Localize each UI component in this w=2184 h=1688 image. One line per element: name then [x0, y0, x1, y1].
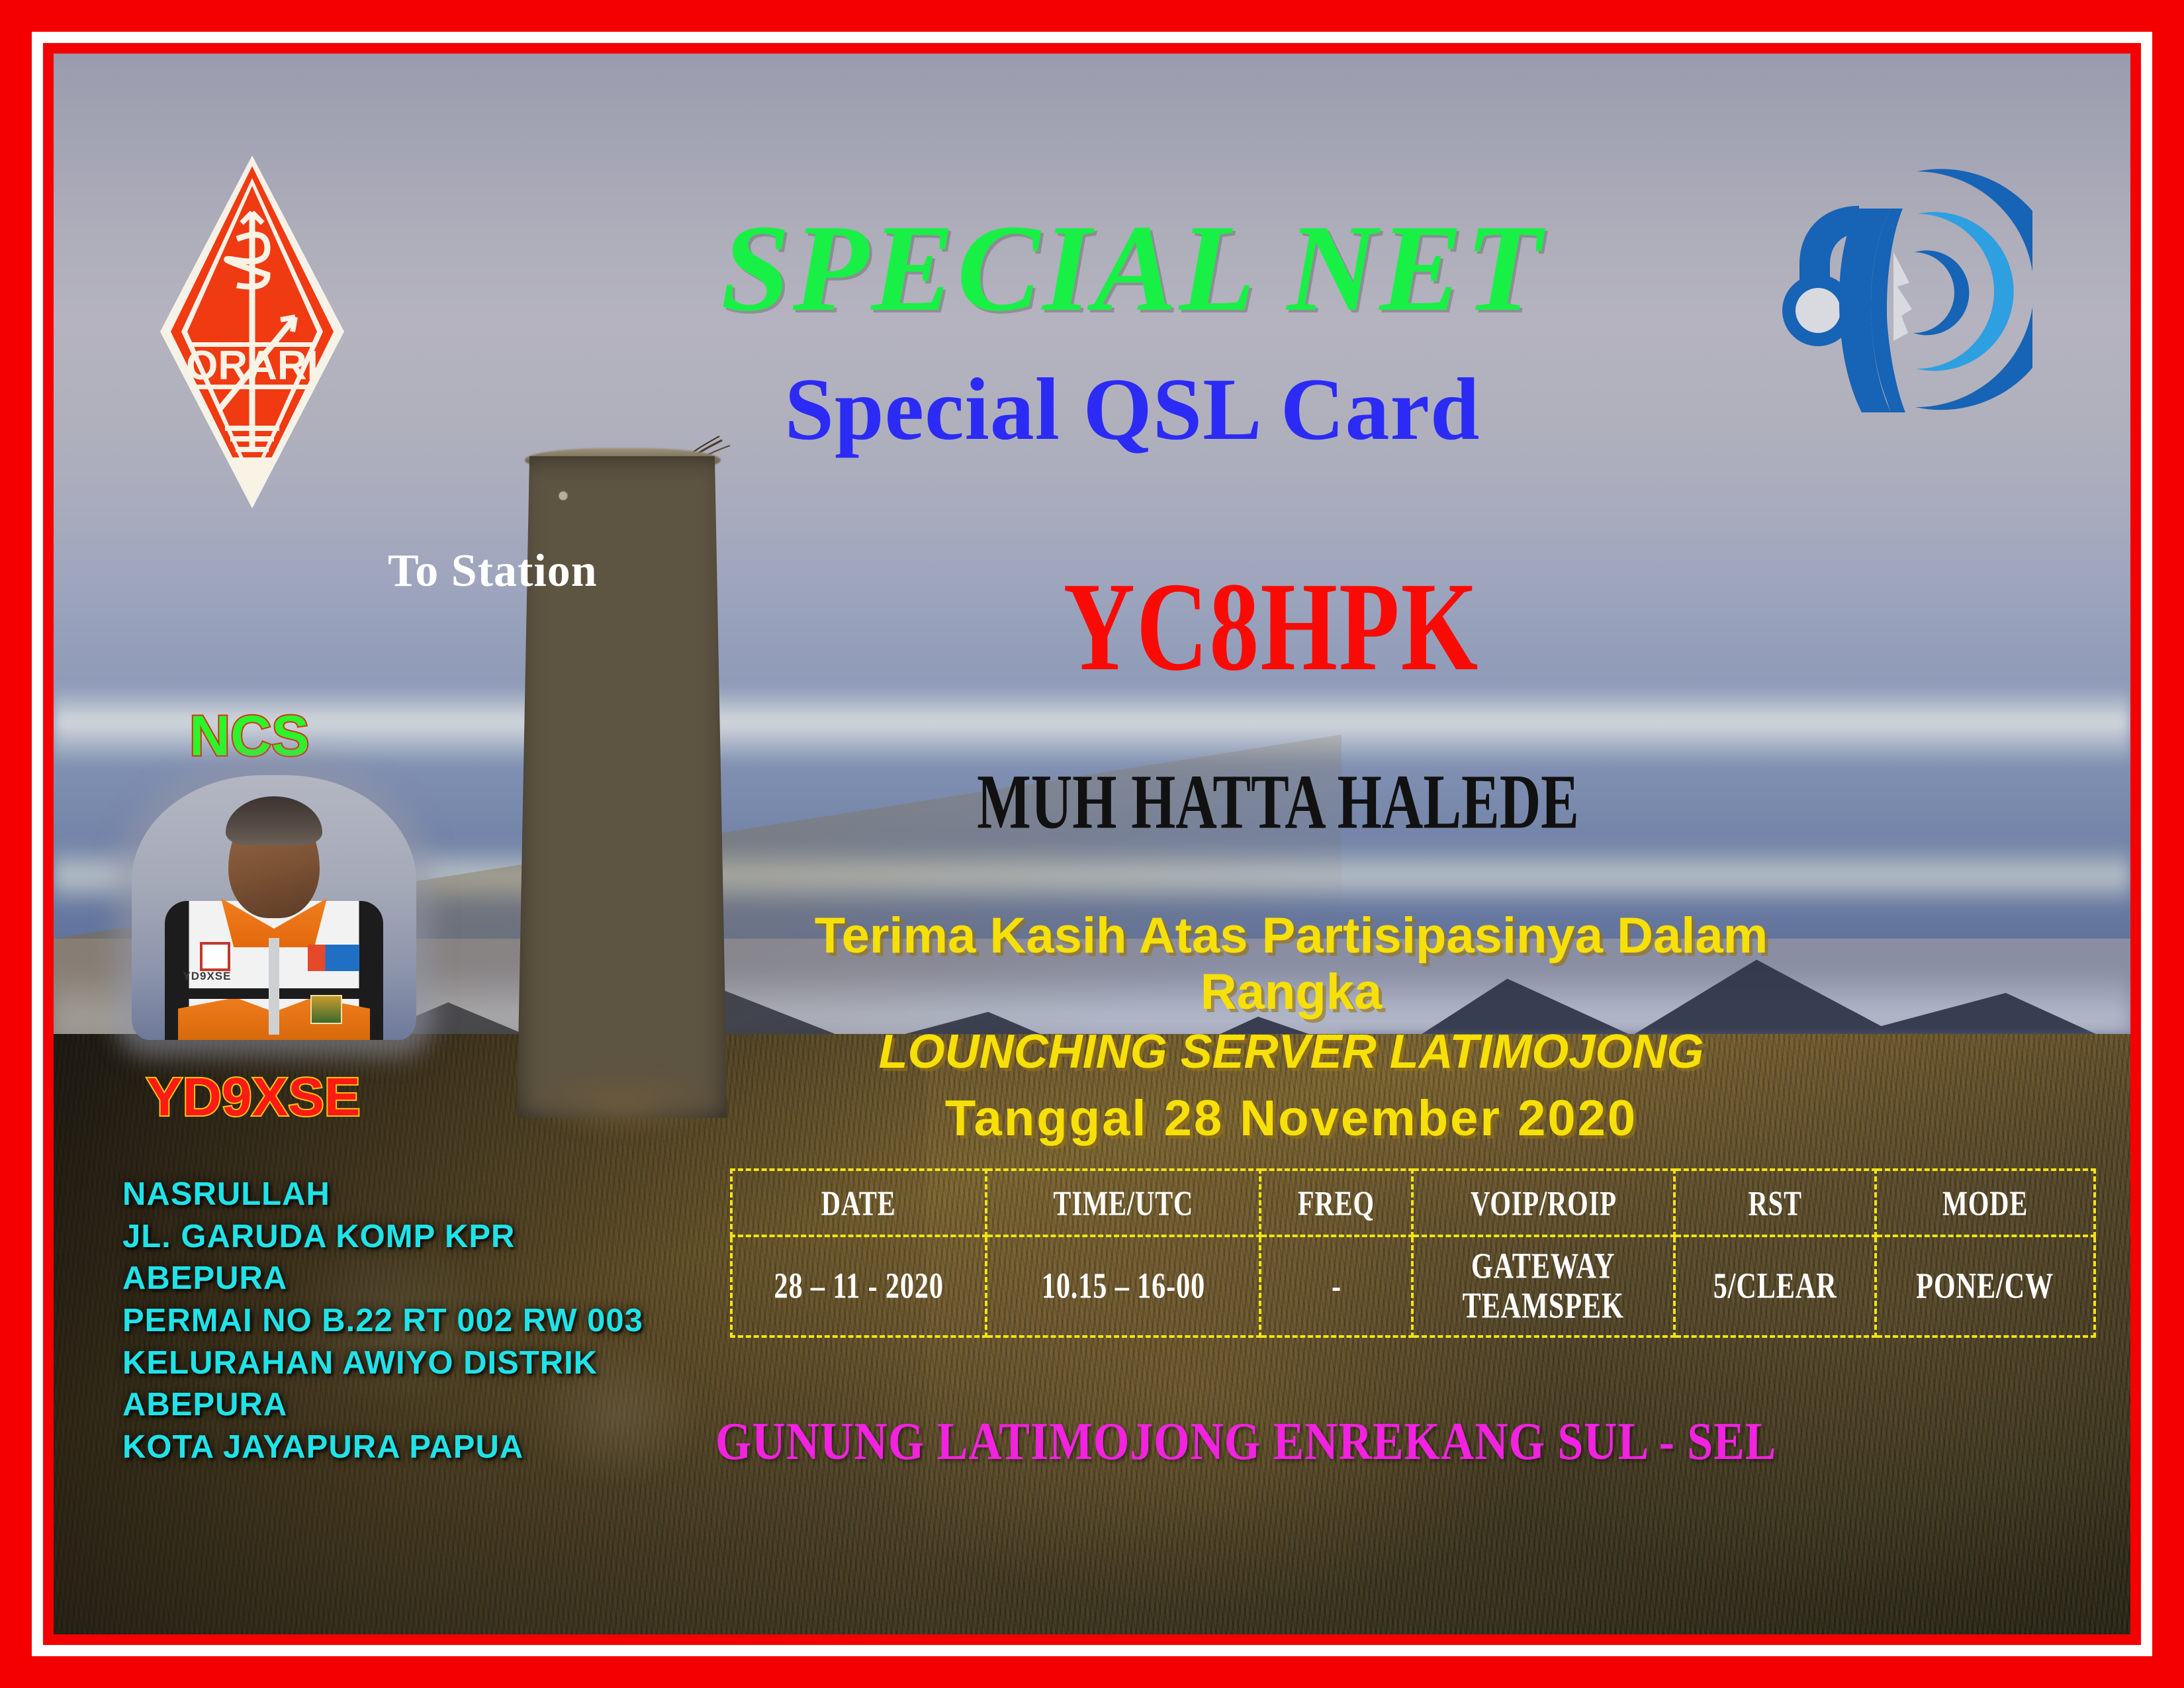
operator-badge-right	[308, 945, 359, 971]
address-line: JL. GARUDA KOMP KPR	[122, 1216, 643, 1258]
stone-monument-tower	[510, 424, 735, 1139]
address-line: PERMAI NO B.22 RT 002 RW 003	[122, 1300, 643, 1342]
address-line: ABEPURA	[122, 1384, 643, 1427]
column-header-date: DATE	[731, 1170, 986, 1236]
station-callsign: YC8HPK	[874, 563, 1668, 690]
orari-logo-text: ORARI	[186, 343, 318, 389]
address-line: ABEPURA	[122, 1258, 643, 1300]
page-title: SPECIAL NET	[504, 206, 1761, 330]
operator-id-card	[310, 995, 342, 1024]
address-line: KELURAHAN AWIYO DISTRIK	[122, 1342, 643, 1385]
table-header-row: DATE TIME/UTC FREQ VOIP/ROIP RST MODE	[731, 1170, 2095, 1236]
ncs-label: NCS	[189, 704, 310, 769]
cell-time: 10.15 – 16-00	[986, 1236, 1260, 1336]
cell-date: 28 – 11 - 2020	[731, 1236, 986, 1336]
cell-mode: PONE/CW	[1876, 1236, 2095, 1336]
operator-badge-left	[200, 942, 230, 971]
sender-address: NASRULLAH JL. GARUDA KOMP KPR ABEPURA PE…	[122, 1174, 643, 1469]
qsl-card-outer-frame: ORARI	[0, 0, 2184, 1688]
event-date-line: Tanggal 28 November 2020	[755, 1084, 1827, 1154]
page-subtitle: Special QSL Card	[504, 365, 1761, 453]
cell-voip-line2: TEAMSPEK	[1463, 1284, 1624, 1329]
ncs-callsign: YD9XSE	[146, 1066, 361, 1129]
column-header-mode: MODE	[1876, 1170, 2095, 1236]
qso-log-table: DATE TIME/UTC FREQ VOIP/ROIP RST MODE 28…	[730, 1168, 2096, 1338]
qsl-card-white-frame: ORARI	[32, 32, 2152, 1656]
operator-photo: YD9XSE	[132, 775, 416, 1040]
cloud-streak-1	[54, 686, 2130, 765]
event-title-line: LOUNCHING SERVER LATIMOJONG	[755, 1020, 1827, 1084]
address-line: KOTA JAYAPURA PAPUA	[122, 1427, 643, 1469]
cell-voip: GATEWAY TEAMSPEK	[1412, 1236, 1674, 1336]
event-thanks-line: Terima Kasih Atas Partisipasinya Dalam R…	[755, 908, 1827, 1020]
table-row: 28 – 11 - 2020 10.15 – 16-00 - GATEWAY T…	[731, 1236, 2095, 1336]
operator-name: MUH HATTA HALEDE	[827, 763, 1729, 841]
mountain-location-caption: GUNUNG LATIMOJONG ENREKANG SUL - SEL	[715, 1411, 1776, 1472]
operator-shirt-placket	[269, 938, 279, 1035]
event-message: Terima Kasih Atas Partisipasinya Dalam R…	[755, 908, 1827, 1154]
cell-freq: -	[1260, 1236, 1412, 1336]
qsl-card-inner-red-frame: ORARI	[43, 43, 2141, 1645]
operator-callsign-patch: YD9XSE	[183, 970, 231, 983]
cell-rst: 5/CLEAR	[1674, 1236, 1876, 1336]
address-line: NASRULLAH	[122, 1174, 643, 1216]
to-station-label: To Station	[388, 545, 598, 598]
cell-voip-line1: GATEWAY	[1471, 1244, 1615, 1289]
column-header-freq: FREQ	[1260, 1170, 1412, 1236]
background-photo: ORARI	[54, 54, 2130, 1634]
column-header-time: TIME/UTC	[986, 1170, 1260, 1236]
column-header-voip: VOIP/ROIP	[1412, 1170, 1674, 1236]
column-header-rst: RST	[1674, 1170, 1876, 1236]
tower-base-shadow	[484, 1073, 762, 1172]
orari-logo: ORARI	[156, 152, 348, 512]
headset-operator-logo	[1761, 153, 2032, 424]
